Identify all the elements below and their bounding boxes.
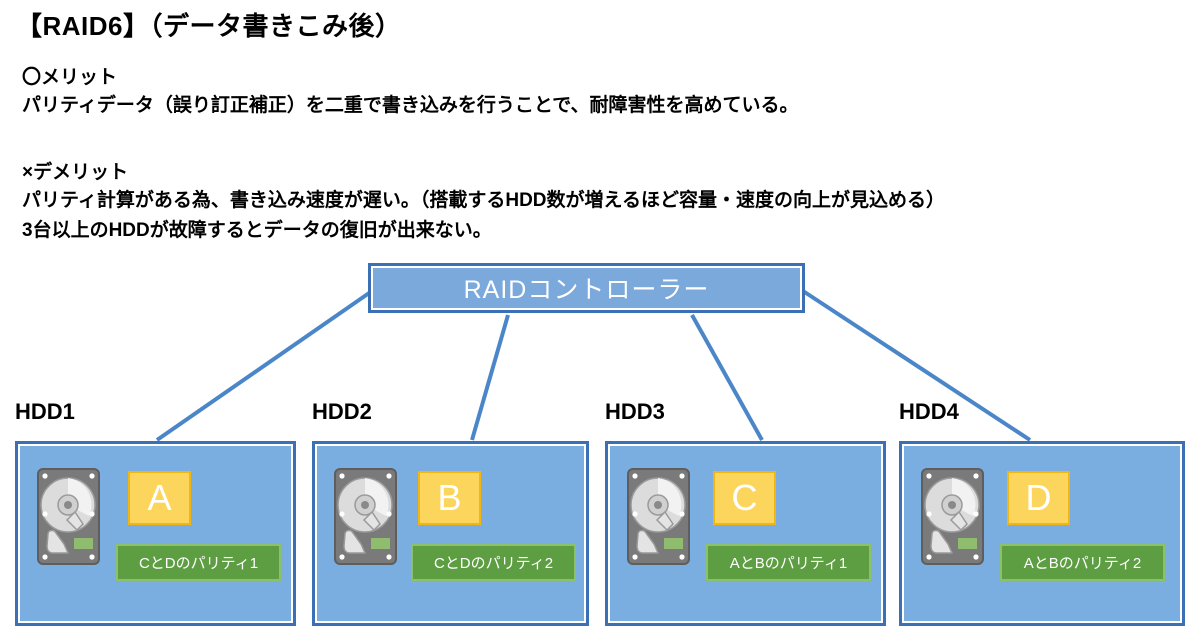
connector-line-hdd2 — [472, 315, 508, 440]
parity-block-3[interactable]: AとBのパリティ1 — [706, 544, 871, 581]
parity-block-1[interactable]: CとDのパリティ1 — [116, 544, 281, 581]
hdd-bay-3[interactable]: C AとBのパリティ1 — [605, 441, 886, 626]
raid6-diagram-slide: 【RAID6】（データ書きこみ後） 〇メリット パリティデータ（誤り訂正補正）を… — [0, 0, 1200, 639]
demerit-heading: ×デメリット — [22, 157, 128, 184]
parity-block-4[interactable]: AとBのパリティ2 — [1000, 544, 1165, 581]
raid-controller-box[interactable]: RAIDコントローラー — [368, 263, 805, 313]
hard-disk-icon — [37, 468, 100, 565]
data-block-4[interactable]: D — [1007, 471, 1070, 525]
raid-controller-label: RAIDコントローラー — [464, 270, 710, 306]
demerit-description-line1: パリティ計算がある為、書き込み速度が遅い。（搭載するHDD数が増えるほど容量・速… — [22, 185, 945, 212]
hard-disk-icon — [334, 468, 397, 565]
hdd-bay-2[interactable]: B CとDのパリティ2 — [312, 441, 589, 626]
hdd-label-1: HDD1 — [15, 399, 75, 425]
page-title: 【RAID6】（データ書きこみ後） — [16, 6, 402, 43]
parity-block-2[interactable]: CとDのパリティ2 — [411, 544, 576, 581]
hdd-bay-1[interactable]: A CとDのパリティ1 — [15, 441, 296, 626]
data-block-3[interactable]: C — [713, 471, 776, 525]
hard-disk-icon — [627, 468, 690, 565]
data-block-1[interactable]: A — [128, 471, 191, 525]
hdd-label-4: HDD4 — [899, 399, 959, 425]
hdd-bay-4[interactable]: D AとBのパリティ2 — [899, 441, 1185, 626]
hard-disk-icon — [921, 468, 984, 565]
merit-heading: 〇メリット — [22, 62, 117, 89]
merit-description: パリティデータ（誤り訂正補正）を二重で書き込みを行うことで、耐障害性を高めている… — [22, 90, 799, 117]
hdd-label-2: HDD2 — [312, 399, 372, 425]
connector-line-hdd3 — [692, 315, 762, 440]
demerit-description-line2: 3台以上のHDDが故障するとデータの復旧が出来ない。 — [22, 215, 492, 242]
data-block-2[interactable]: B — [418, 471, 481, 525]
hdd-label-3: HDD3 — [605, 399, 665, 425]
